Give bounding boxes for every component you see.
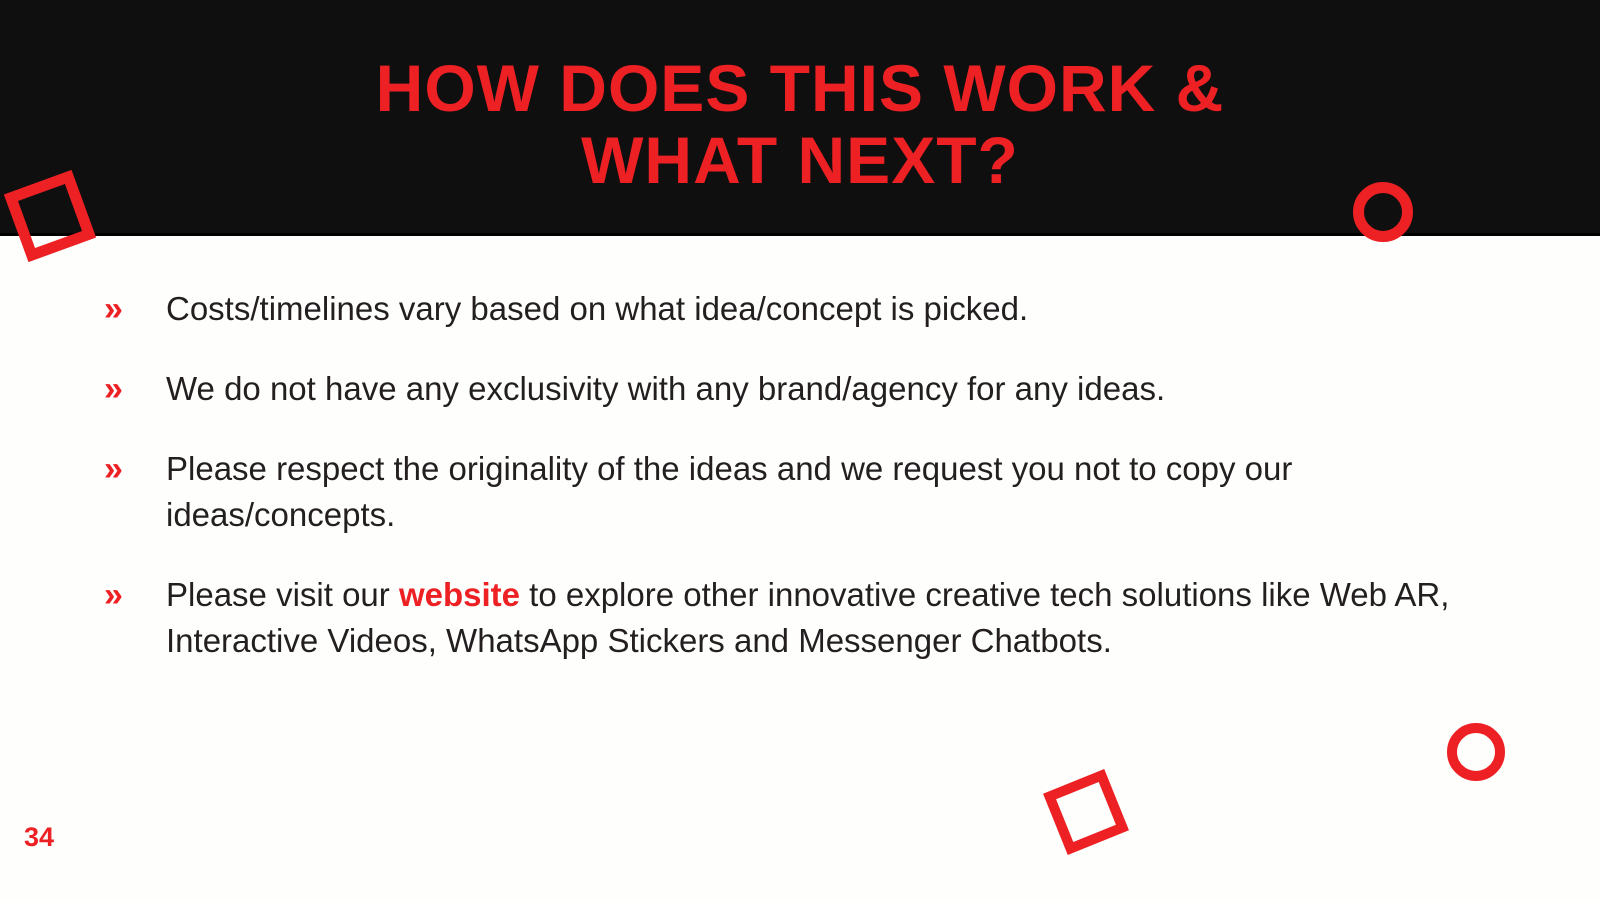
list-item-text-segment: We do not have any exclusivity with any … — [166, 370, 1165, 407]
website-link[interactable]: website — [399, 576, 520, 613]
slide-title-line-2: WHAT NEXT? — [0, 124, 1600, 196]
list-item: » Costs/timelines vary based on what ide… — [104, 286, 1524, 332]
list-item-text-segment: Please respect the originality of the id… — [166, 450, 1292, 533]
list-item-text: Please visit our website to explore othe… — [166, 572, 1524, 664]
page-number: 34 — [24, 822, 54, 852]
list-item-text-segment: Please visit our — [166, 576, 399, 613]
double-chevron-icon: » — [104, 286, 166, 332]
double-chevron-icon: » — [104, 446, 166, 492]
diamond-outline-bottom-center-icon — [1043, 769, 1129, 855]
list-item-text: Costs/timelines vary based on what idea/… — [166, 286, 1524, 332]
double-chevron-icon: » — [104, 572, 166, 618]
presentation-slide: HOW DOES THIS WORK & WHAT NEXT? » Costs/… — [0, 0, 1600, 900]
list-item-text-segment: Costs/timelines vary based on what idea/… — [166, 290, 1028, 327]
bullet-list: » Costs/timelines vary based on what ide… — [104, 286, 1524, 698]
list-item-text: Please respect the originality of the id… — [166, 446, 1524, 538]
list-item: » Please respect the originality of the … — [104, 446, 1524, 538]
ring-outline-top-right-icon — [1353, 182, 1413, 242]
list-item-text: We do not have any exclusivity with any … — [166, 366, 1524, 412]
ring-outline-bottom-right-icon — [1447, 723, 1505, 781]
list-item: » We do not have any exclusivity with an… — [104, 366, 1524, 412]
list-item: » Please visit our website to explore ot… — [104, 572, 1524, 664]
double-chevron-icon: » — [104, 366, 166, 412]
slide-title-line-1: HOW DOES THIS WORK & — [0, 52, 1600, 124]
slide-title: HOW DOES THIS WORK & WHAT NEXT? — [0, 52, 1600, 196]
